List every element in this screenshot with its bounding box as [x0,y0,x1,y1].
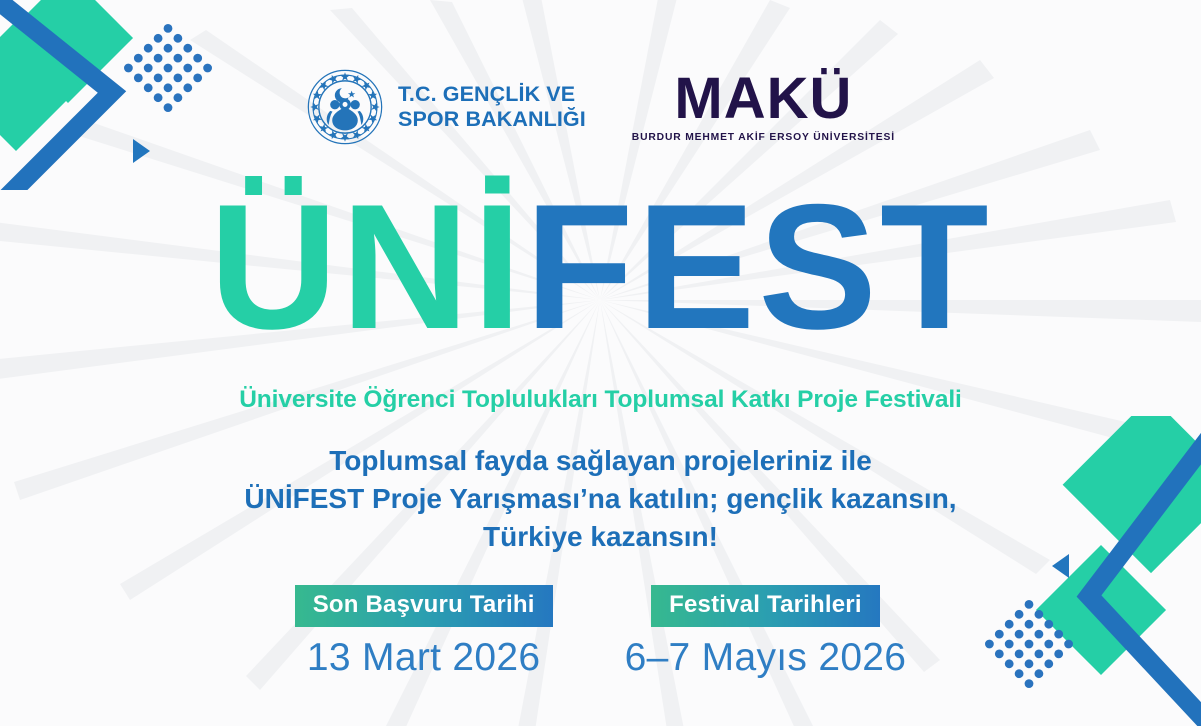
festival-block: Festival Tarihleri 6–7 Mayıs 2026 [625,585,907,680]
description-line-2: ÜNİFEST Proje Yarışması’na katılın; genç… [0,480,1201,518]
festival-date-value: 6–7 Mayıs 2026 [625,636,907,680]
title-uni: ÜNİ [209,167,525,366]
ministry-logo: T.C. GENÇLİK VE SPOR BAKANLIĞI [306,68,586,146]
university-subtitle: BURDUR MEHMET AKİF ERSOY ÜNİVERSİTESİ [632,132,895,143]
festival-badge-label: Festival Tarihleri [651,585,880,627]
description: Toplumsal fayda sağlayan projeleriniz il… [0,442,1201,555]
description-line-1: Toplumsal fayda sağlayan projeleriniz il… [0,442,1201,480]
title-fest: FEST [525,167,992,366]
description-line-3: Türkiye kazansın! [0,518,1201,556]
deadline-date-value: 13 Mart 2026 [307,636,540,680]
deadline-block: Son Başvuru Tarihi 13 Mart 2026 [295,585,553,680]
deadline-badge-label: Son Başvuru Tarihi [295,585,553,627]
tagline: Üniversite Öğrenci Toplulukları Toplumsa… [0,386,1201,414]
ministry-emblem-icon [306,68,384,146]
logo-row: T.C. GENÇLİK VE SPOR BAKANLIĞI MAKÜ BURD… [0,68,1201,146]
university-wordmark: MAKÜ [674,71,852,126]
date-row: Son Başvuru Tarihi 13 Mart 2026 Festival… [0,585,1201,680]
triangle-left-icon [1052,554,1069,578]
ministry-name: T.C. GENÇLİK VE SPOR BAKANLIĞI [398,82,586,133]
unifest-promo-banner: T.C. GENÇLİK VE SPOR BAKANLIĞI MAKÜ BURD… [0,0,1201,726]
page-title: ÜNİFEST [0,178,1201,356]
university-logo: MAKÜ BURDUR MEHMET AKİF ERSOY ÜNİVERSİTE… [632,71,895,142]
